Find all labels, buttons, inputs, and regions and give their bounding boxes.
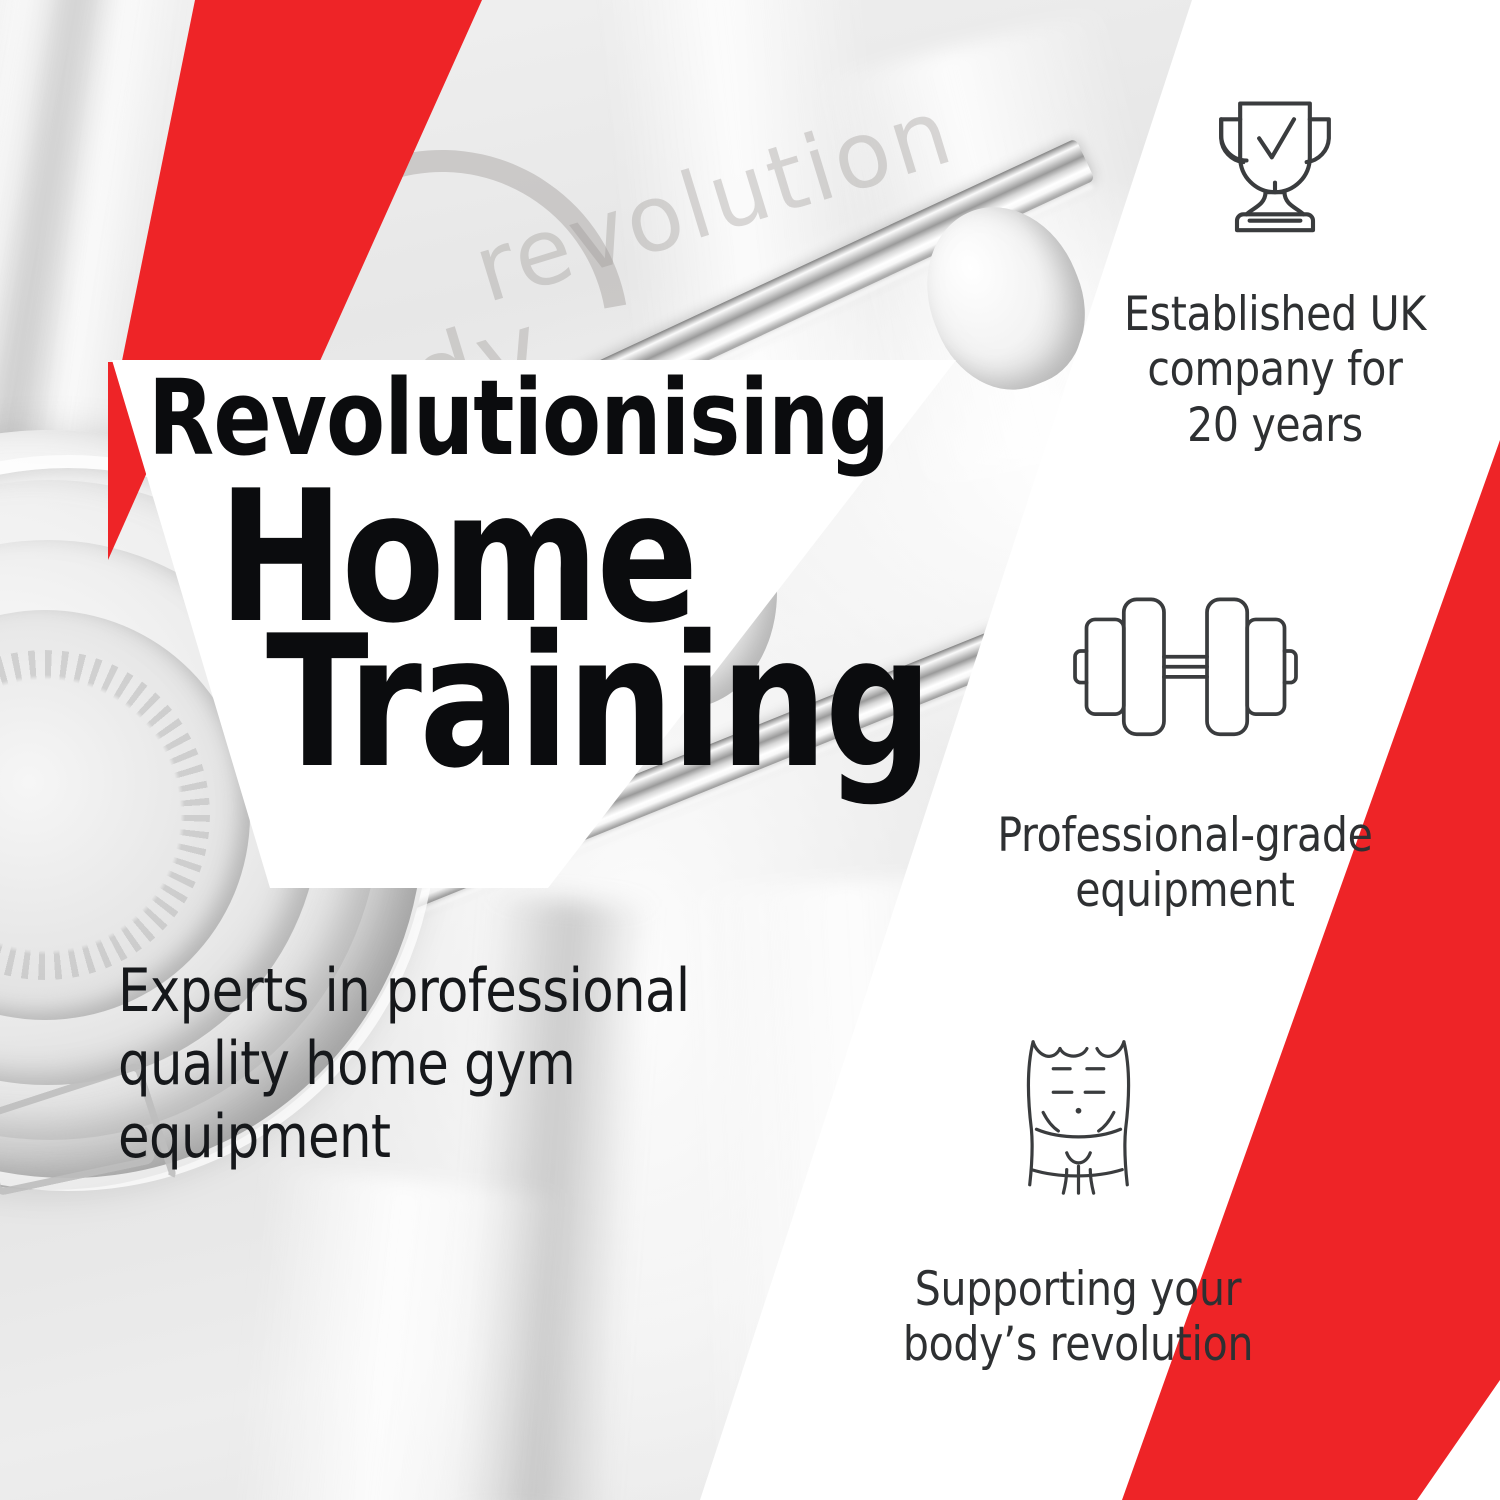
feature-item-professional-grade: Professional-grade equipment (965, 585, 1405, 919)
torso-abs-icon (858, 1025, 1298, 1210)
feature-label: Established UK company for 20 years (1062, 287, 1489, 453)
trophy-check-icon (1055, 75, 1495, 265)
subheadline: Experts in professional quality home gym… (118, 955, 812, 1175)
feature-label: Professional-grade equipment (972, 808, 1399, 919)
feature-label: Supporting your body’s revolution (865, 1262, 1292, 1373)
feature-list: Established UK company for 20 years (900, 0, 1500, 1500)
feature-item-supporting-revolution: Supporting your body’s revolution (858, 1025, 1298, 1373)
promo-banner: body revolution (0, 0, 1500, 1500)
feature-item-established-uk: Established UK company for 20 years (1055, 75, 1495, 453)
headline-line-3: Training (266, 621, 857, 785)
headline-block: Revolutionising Home Training (148, 372, 908, 785)
dumbbell-icon (965, 585, 1405, 750)
